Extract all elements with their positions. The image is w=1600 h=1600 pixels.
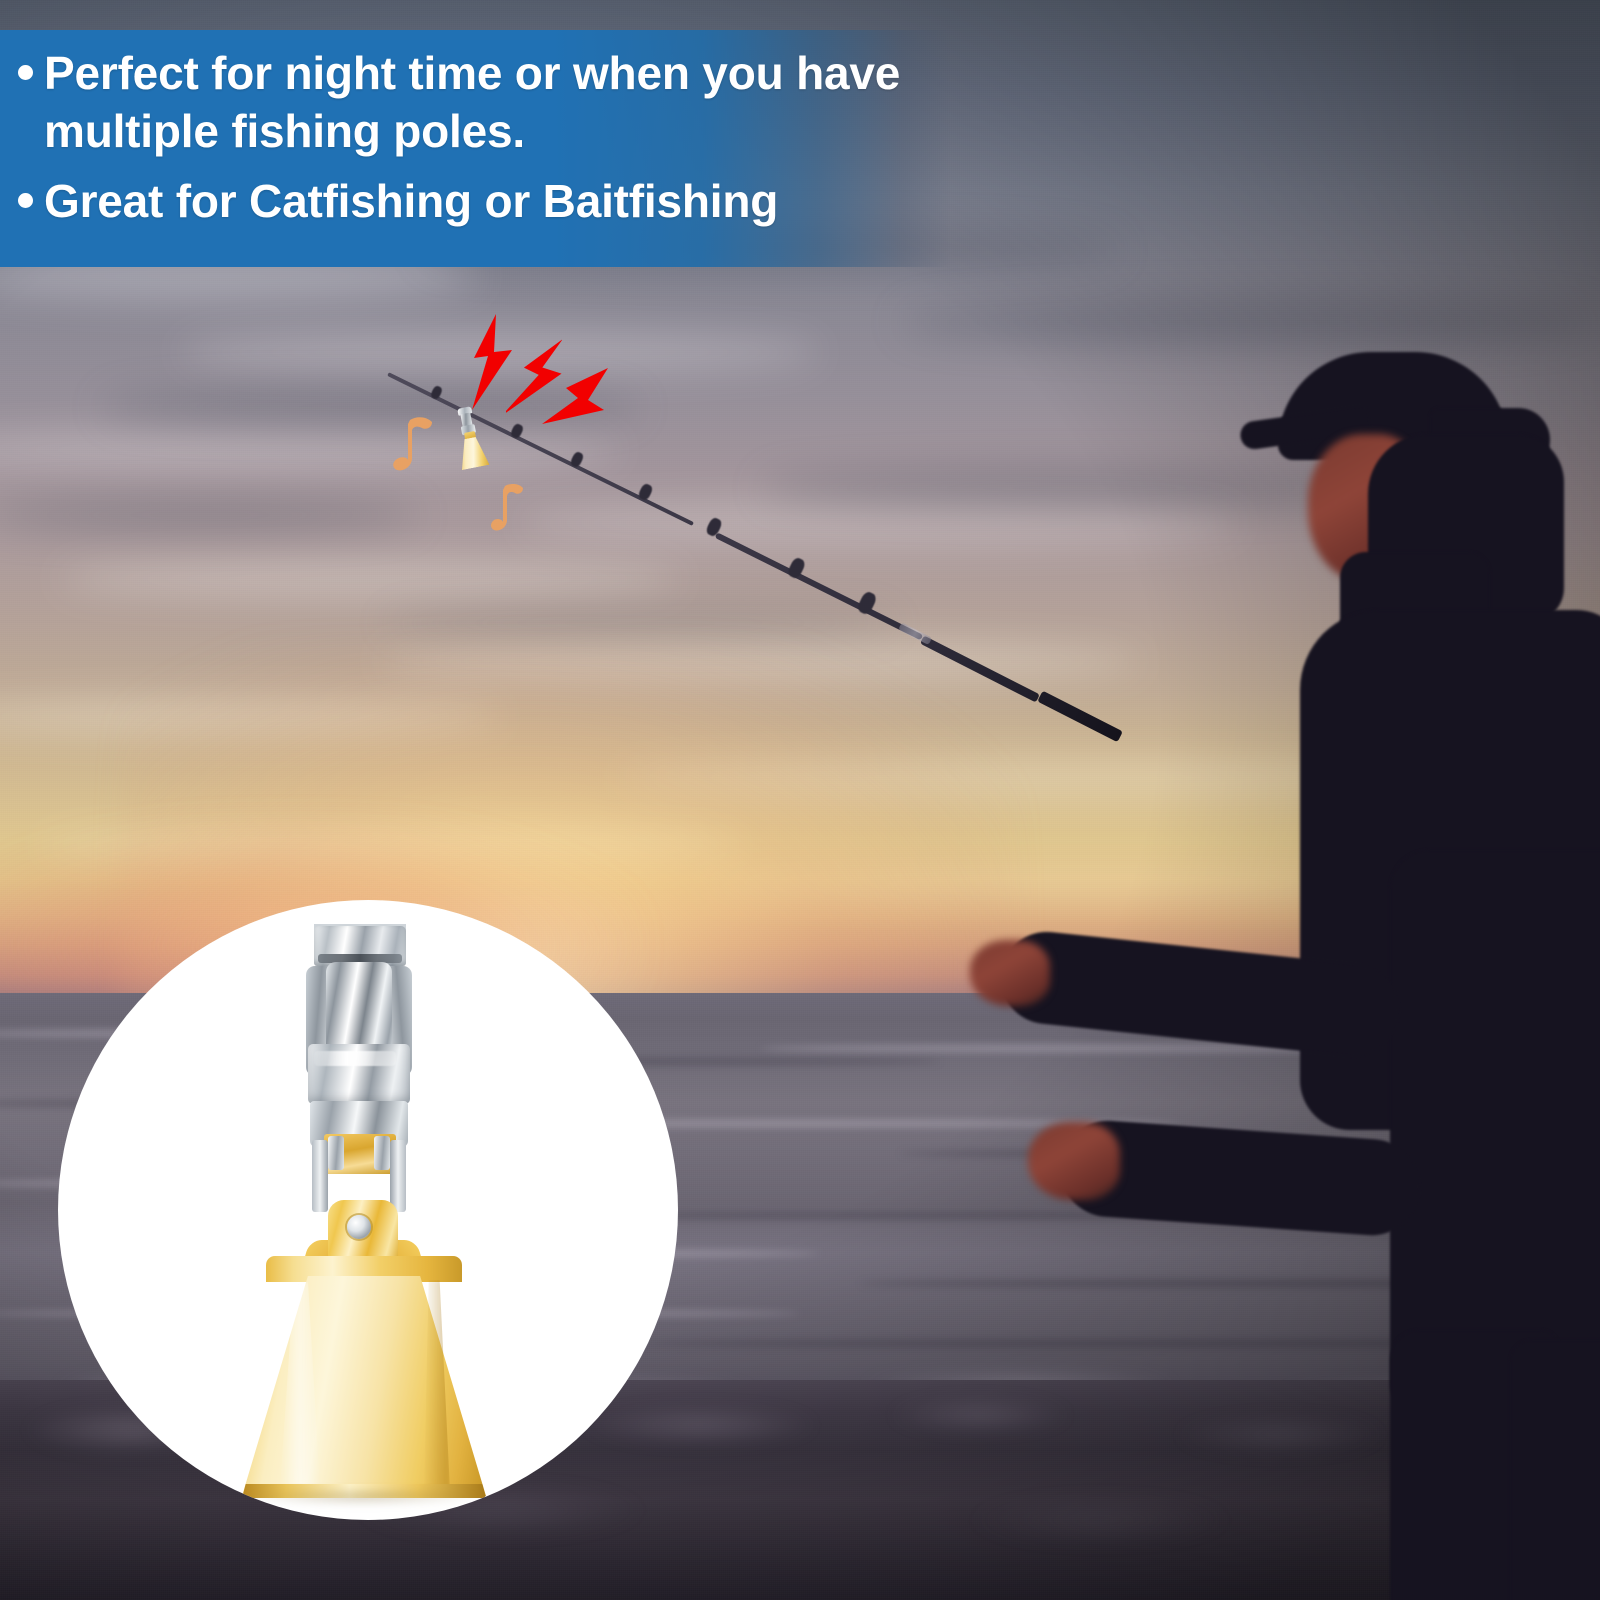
bullet-text: Great for Catfishing or Baitfishing xyxy=(44,172,778,230)
mini-bell-body xyxy=(456,435,489,470)
rivet-icon xyxy=(347,1215,371,1239)
torso-lower xyxy=(1390,850,1600,1410)
clip-neck xyxy=(326,962,392,1054)
lower-hand xyxy=(1028,1122,1120,1200)
bullet-dot-icon xyxy=(18,193,33,208)
bell-body xyxy=(242,1276,486,1496)
product-marketing-image: Perfect for night time or when you have … xyxy=(0,0,1600,1600)
upper-hand xyxy=(970,940,1050,1006)
clip-highlight xyxy=(314,1051,396,1066)
product-bell-clip xyxy=(228,918,508,1506)
bullet-item: Perfect for night time or when you have … xyxy=(18,44,950,160)
leg-back xyxy=(1510,1340,1600,1600)
bell-contact-shadow xyxy=(248,1490,478,1506)
music-note-icon xyxy=(490,482,526,534)
product-inset-circle xyxy=(58,900,678,1520)
spring-pin-right xyxy=(374,1136,390,1170)
music-note-icon xyxy=(392,414,436,474)
feature-banner: Perfect for night time or when you have … xyxy=(0,30,950,267)
clip-leg-right xyxy=(390,1140,406,1212)
clip-leg-left xyxy=(312,1140,328,1212)
bullet-dot-icon xyxy=(18,65,33,80)
spring-pin-left xyxy=(328,1136,344,1170)
lightning-bolt-icon xyxy=(538,366,612,428)
bullet-text: Perfect for night time or when you have … xyxy=(44,44,924,160)
fisherman-silhouette xyxy=(1180,330,1600,1600)
bullet-item: Great for Catfishing or Baitfishing xyxy=(18,172,950,230)
